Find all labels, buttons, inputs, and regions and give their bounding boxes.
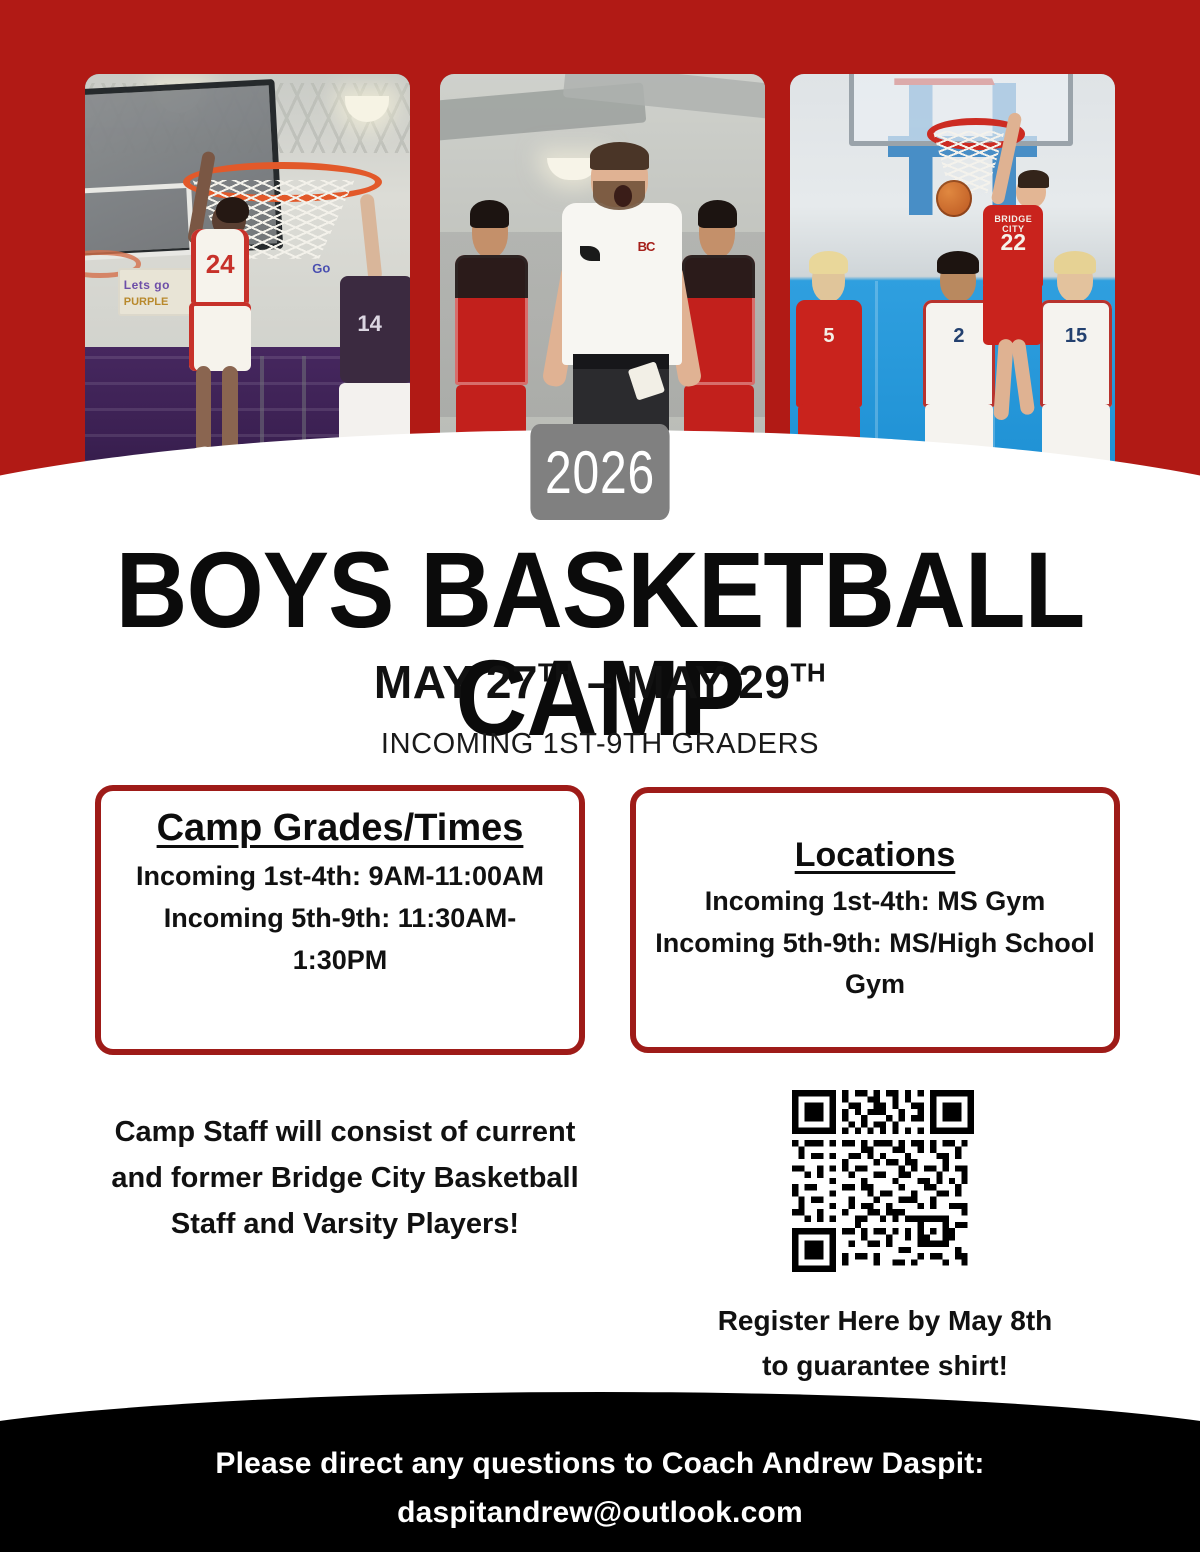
player-leg-right [222, 366, 238, 453]
camp-grades-times-line: Incoming 1st-4th: 9AM-11:00AM [117, 856, 563, 898]
footer-contact-email[interactable]: daspitandrew@outlook.com [0, 1489, 1200, 1538]
player-undershirt [682, 255, 755, 298]
player-hair [698, 200, 737, 228]
player-dunking: BRIDGE CITY 22 [969, 136, 1060, 426]
camp-dates: MAY 27TH – MAY 29TH [0, 655, 1200, 709]
eligible-grades: INCOMING 1ST-9TH GRADERS [0, 728, 1200, 761]
player-hair [216, 197, 249, 223]
camp-flyer: Lets go PURPLE Go 24 [0, 0, 1200, 1552]
locations-line: Incoming 1st-4th: MS Gym [652, 881, 1098, 923]
player-hair [809, 251, 848, 274]
camp-grades-times-heading: Camp Grades/Times [117, 807, 563, 850]
player-jersey-number: 5 [796, 325, 862, 348]
team-logo-text: BC [638, 239, 656, 264]
player-jersey-number: 22 [983, 229, 1043, 256]
camp-grades-times-line: Incoming 5th-9th: 11:30AM-1:30PM [117, 898, 563, 982]
registration-line-2: to guarantee shirt! [640, 1343, 1130, 1388]
camp-staff-note: Camp Staff will consist of current and f… [95, 1110, 595, 1247]
defender-number: 14 [357, 311, 381, 337]
year-badge: 2026 [530, 424, 669, 520]
wall-sign-line2: PURPLE [124, 296, 169, 308]
footer-contact: Please direct any questions to Coach And… [0, 1440, 1200, 1537]
registration-line-1: Register Here by May 8th [640, 1298, 1130, 1343]
player-hair [1054, 251, 1096, 274]
coach-hair [590, 142, 650, 171]
qr-code[interactable] [790, 1090, 976, 1272]
player-leg-left [196, 366, 212, 453]
coach-polo-shirt [562, 203, 682, 365]
camp-dates-start-suffix: TH [538, 658, 574, 688]
wall-sign-line1: Lets go [124, 278, 170, 292]
player-hair [1018, 170, 1049, 187]
camp-dates-start: MAY 27 [374, 656, 538, 708]
player-undershirt [455, 255, 528, 298]
player-leg-left [993, 338, 1013, 420]
footer-contact-line-1: Please direct any questions to Coach And… [0, 1440, 1200, 1489]
player-shorts [983, 281, 1041, 345]
player-leg-right [1011, 338, 1035, 415]
locations-heading: Locations [652, 836, 1098, 875]
basketball-icon [936, 180, 972, 217]
locations-box: Locations Incoming 1st-4th: MS Gym Incom… [630, 787, 1120, 1053]
locations-line: Incoming 5th-9th: MS/High School Gym [652, 923, 1098, 1007]
camp-dates-end: – MAY 29 [574, 656, 791, 708]
player-jersey-number: 24 [191, 249, 250, 280]
coach-mouth [614, 185, 632, 207]
player-shorts [189, 302, 251, 372]
camp-dates-end-suffix: TH [790, 658, 826, 688]
camp-grades-times-box: Camp Grades/Times Incoming 1st-4th: 9AM-… [95, 785, 585, 1055]
page-title: BOYS BASKETBALL CAMP [48, 536, 1152, 752]
registration-note: Register Here by May 8th to guarantee sh… [640, 1298, 1130, 1389]
player-hair [470, 200, 509, 228]
player-jersey [796, 300, 862, 407]
nike-swoosh-icon [580, 246, 600, 260]
